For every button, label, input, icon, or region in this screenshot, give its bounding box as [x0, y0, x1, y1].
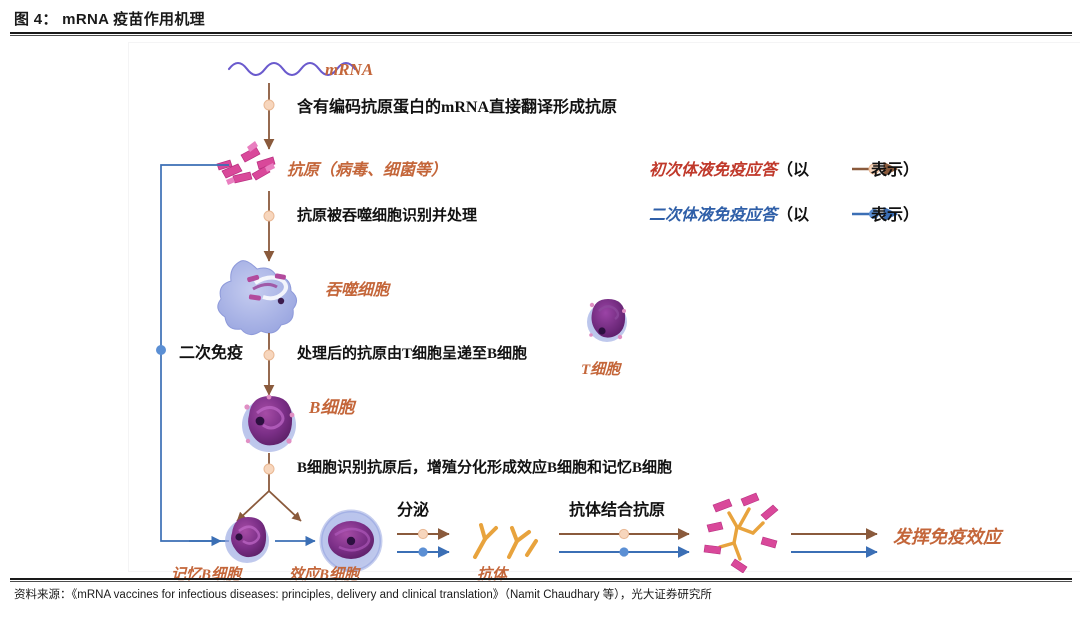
footer-rule-thin [10, 581, 1072, 582]
arrow-phagocytosis [264, 191, 274, 261]
arrow-outcome [791, 534, 877, 552]
diagram-artwork [129, 43, 1080, 573]
arrow-presentation [264, 333, 274, 395]
label-outcome: 发挥免疫效应 [893, 523, 1001, 549]
header-rule-thin [10, 35, 1072, 36]
legend-secondary-paren-open: （以 [777, 207, 809, 224]
step-phagocytosis-text: 抗原被吞噬细胞识别并处理 [297, 204, 477, 225]
page-title: 图 4： mRNA 疫苗作用机理 [14, 8, 205, 29]
arrow-translation [264, 83, 274, 149]
phagocyte-icon [218, 261, 297, 335]
memory-b-cell-icon [225, 517, 269, 563]
step-proliferation-text: B细胞识别抗原后，增殖分化形成效应B细胞和记忆B细胞 [297, 456, 672, 477]
legend-item-primary: 初次体液免疫应答（以表示） [649, 156, 919, 180]
arrow-proliferation [237, 453, 301, 521]
effector-b-cell-icon [321, 511, 381, 571]
diagram-stage: mRNA 含有编码抗原蛋白的mRNA直接翻译形成抗原 抗原（病毒、细菌等） 抗原… [129, 43, 1080, 573]
legend-secondary-text: 二次体液免疫应答 [649, 207, 777, 224]
step-presentation-text: 处理后的抗原由T细胞呈递至B细胞 [297, 342, 527, 363]
arrow-binding [559, 529, 689, 556]
label-antigen: 抗原（病毒、细菌等） [287, 156, 447, 180]
figure-panel: mRNA 含有编码抗原蛋白的mRNA直接翻译形成抗原 抗原（病毒、细菌等） 抗原… [128, 42, 1080, 572]
label-mrna: mRNA [325, 60, 373, 80]
legend-primary-paren-open: （以 [777, 162, 809, 179]
step-binding-text: 抗体结合抗原 [569, 496, 665, 520]
legend-primary-text: 初次体液免疫应答 [649, 162, 777, 179]
label-secondary-immunity: 二次免疫 [179, 339, 243, 363]
antigen-icon [217, 141, 275, 185]
legend-primary-paren-close: 表示） [871, 162, 919, 179]
b-cell-icon [242, 395, 296, 452]
step-translation-text: 含有编码抗原蛋白的mRNA直接翻译形成抗原 [297, 93, 617, 117]
legend-item-secondary: 二次体液免疫应答（以表示） [649, 201, 919, 225]
t-cell-icon [587, 299, 627, 342]
step-secretion-text: 分泌 [397, 496, 429, 520]
antibody-icon [475, 525, 536, 557]
arrow-secretion [397, 529, 449, 556]
footer-rule-thick [10, 578, 1072, 580]
source-note: 资料来源：《mRNA vaccines for infectious disea… [14, 586, 712, 602]
legend-secondary-paren-close: 表示） [871, 207, 919, 224]
label-b-cell: B细胞 [309, 393, 354, 418]
header-rule-thick [10, 32, 1072, 34]
antigen-antibody-complex-icon [704, 493, 778, 573]
label-t-cell: T细胞 [581, 358, 620, 379]
label-phagocyte: 吞噬细胞 [325, 276, 389, 300]
